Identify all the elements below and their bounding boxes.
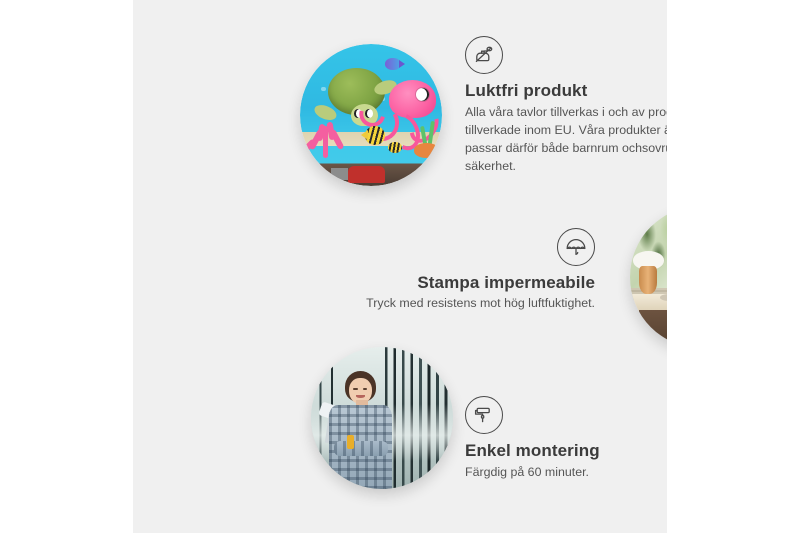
blue-fish — [385, 58, 401, 69]
smile — [356, 395, 365, 399]
feature-image-installer — [311, 347, 453, 489]
underwater-artwork — [300, 44, 442, 186]
feature-block-odourless: Luktfri produkt Alla våra tavlor tillver… — [465, 36, 667, 176]
wooden-cabinet — [639, 310, 667, 348]
icon-wrap — [465, 36, 667, 74]
bubble — [321, 87, 325, 91]
icon-wrap — [465, 396, 667, 434]
yellow-striped-fish — [388, 142, 402, 153]
content-panel: Luktfri produkt Alla våra tavlor tillver… — [133, 0, 667, 533]
paint-roller-icon — [465, 396, 503, 434]
no-fragrance-spray-bottle-icon — [465, 36, 503, 74]
foreground-object — [348, 166, 385, 183]
feature-body: Alla våra tavlor tillverkas i och av pro… — [465, 104, 667, 176]
bathroom-artwork — [630, 206, 667, 348]
copper-vase — [639, 266, 657, 294]
crossed-arms — [334, 441, 388, 457]
feature-title: Enkel montering — [465, 440, 667, 461]
crab — [414, 143, 440, 157]
forest-artwork — [311, 347, 453, 489]
feature-image-bathroom — [630, 206, 667, 348]
promo-graphic: Luktfri produkt Alla våra tavlor tillver… — [0, 0, 800, 533]
icon-wrap — [333, 228, 595, 266]
yellow-striped-fish — [365, 126, 385, 144]
feature-image-underwater — [300, 44, 442, 186]
feature-title: Stampa impermeabile — [333, 272, 595, 293]
drawer-handle — [663, 342, 667, 343]
hand-tool — [347, 435, 354, 449]
foreground-object — [331, 168, 348, 181]
feature-block-easy-install: Enkel montering Färgdig på 60 minuter. — [465, 396, 667, 482]
umbrella-icon — [557, 228, 595, 266]
feature-block-waterproof: Stampa impermeabile Tryck med resistens … — [333, 228, 595, 313]
octopus-eye — [416, 88, 429, 101]
eye — [363, 388, 368, 390]
feature-body: Tryck med resistens mot hög luftfuktighe… — [333, 295, 595, 313]
feature-body: Färgdig på 60 minuter. — [465, 464, 667, 482]
eye — [353, 388, 358, 390]
feature-title: Luktfri produkt — [465, 80, 667, 101]
